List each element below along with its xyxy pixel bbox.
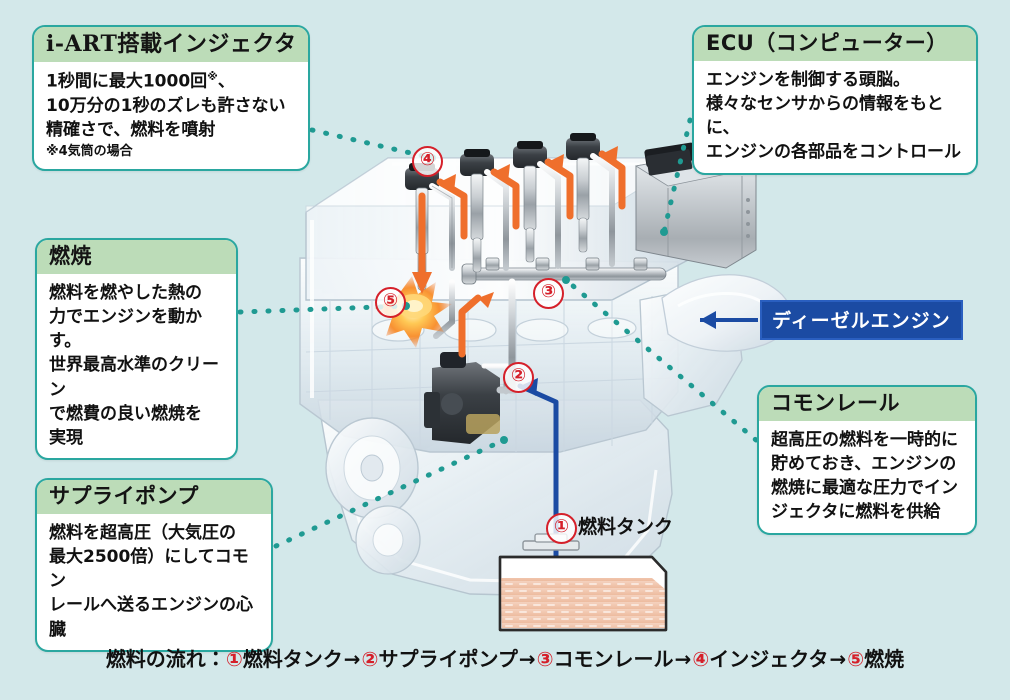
callout-common-rail-line4: ジェクタに燃料を供給 [771,500,964,524]
caption-steps: ①燃料タンク→②サプライポンプ→③コモンレール→④インジェクタ→⑤燃焼 [226,647,904,671]
dotted-line-icon [276,440,504,546]
callout-combustion-line5: 実現 [49,426,225,450]
callout-supply-pump-body: 燃料を超高圧（大気圧の 最大2500倍）にしてコモン レールへ送るエンジンの心臓 [37,514,271,650]
callout-injector-note: ※4気筒の場合 [46,143,297,161]
callout-supply-pump-line3: レールへ送るエンジンの心臓 [49,593,260,641]
caption-arrow-icon: → [674,647,693,671]
caption-step-label: 燃焼 [864,647,904,671]
caption-step-number: ③ [537,647,554,671]
callout-injector-title: i-ART搭載インジェクタ [34,27,308,62]
callout-supply-pump-line2: 最大2500倍）にしてコモン [49,545,260,593]
callout-ecu: ECU（コンピューター） エンジンを制御する頭脳。 様々なセンサからの情報をもと… [692,25,978,175]
callout-supply-pump-title: サプライポンプ [37,480,271,514]
dotted-line-icon [566,280,756,440]
callout-injector: i-ART搭載インジェクタ 1秒間に最大1000回※、 10万分の1秒のズレも許… [32,25,310,171]
caption-arrow-icon: → [828,647,847,671]
callout-common-rail: コモンレール 超高圧の燃料を一時的に 貯めておき、エンジンの 燃焼に最適な圧力で… [757,385,977,535]
caption-prefix: 燃料の流れ： [106,647,226,671]
diagram-canvas: i-ART搭載インジェクタ 1秒間に最大1000回※、 10万分の1秒のズレも許… [0,0,1010,700]
callout-common-rail-body: 超高圧の燃料を一時的に 貯めておき、エンジンの 燃焼に最適な圧力でイン ジェクタ… [759,421,975,533]
caption-step-label: サプライポンプ [378,647,517,671]
callout-ecu-line1: エンジンを制御する頭脳。 [706,68,965,92]
callout-supply-pump-line1: 燃料を超高圧（大気圧の [49,521,260,545]
callout-combustion-line2: 力でエンジンを動かす。 [49,305,225,353]
callout-ecu-line3: エンジンの各部品をコントロール [706,140,965,164]
callout-combustion-body: 燃料を燃やした熱の 力でエンジンを動かす。 世界最高水準のクリーン で燃費の良い… [37,274,236,458]
caption-step-label: コモンレール [554,647,674,671]
callout-ecu-title: ECU（コンピューター） [694,27,976,61]
callout-injector-line2: 10万分の1秒のズレも許さない [46,94,297,118]
marker-1-fuel-tank: ① [546,513,577,544]
caption-step-number: ⑤ [847,647,864,671]
callout-combustion-title: 燃焼 [37,240,236,274]
marker-4-injector: ④ [412,146,443,177]
diesel-engine-label: ディーゼルエンジン [760,300,963,340]
marker-3-common-rail: ③ [533,278,564,309]
caption-arrow-icon: → [518,647,537,671]
callout-ecu-line2: 様々なセンサからの情報をもとに、 [706,92,965,140]
callout-injector-body: 1秒間に最大1000回※、 10万分の1秒のズレも許さない 精確さで、燃料を噴射… [34,62,308,169]
callout-common-rail-title: コモンレール [759,387,975,421]
callout-common-rail-line3: 燃焼に最適な圧力でイン [771,476,964,500]
asterisk-mark: ※ [207,70,218,83]
fuel-tank-label: 燃料タンク [578,512,673,539]
marker-5-combustion: ⑤ [375,287,406,318]
fuel-flow-caption: 燃料の流れ：①燃料タンク→②サプライポンプ→③コモンレール→④インジェクタ→⑤燃… [0,643,1010,672]
dotted-line-icon [664,120,690,232]
callout-combustion-line1: 燃料を燃やした熱の [49,281,225,305]
callout-combustion: 燃焼 燃料を燃やした熱の 力でエンジンを動かす。 世界最高水準のクリーン で燃費… [35,238,238,460]
caption-step-number: ④ [692,647,709,671]
marker-2-supply-pump: ② [503,362,534,393]
callout-common-rail-line2: 貯めておき、エンジンの [771,452,964,476]
caption-arrow-icon: → [343,647,362,671]
caption-step-number: ① [226,647,243,671]
callout-injector-line1: 1秒間に最大1000回※、 [46,69,297,94]
caption-step-label: インジェクタ [709,647,828,671]
caption-step-number: ② [362,647,379,671]
callout-combustion-line3: 世界最高水準のクリーン [49,353,225,401]
callout-injector-line3: 精確さで、燃料を噴射 [46,118,297,142]
callout-common-rail-line1: 超高圧の燃料を一時的に [771,428,964,452]
callout-supply-pump: サプライポンプ 燃料を超高圧（大気圧の 最大2500倍）にしてコモン レールへ送… [35,478,273,652]
caption-step-label: 燃料タンク [243,647,343,671]
callout-ecu-body: エンジンを制御する頭脳。 様々なセンサからの情報をもとに、 エンジンの各部品をコ… [694,61,976,173]
callout-combustion-line4: で燃費の良い燃焼を [49,402,225,426]
